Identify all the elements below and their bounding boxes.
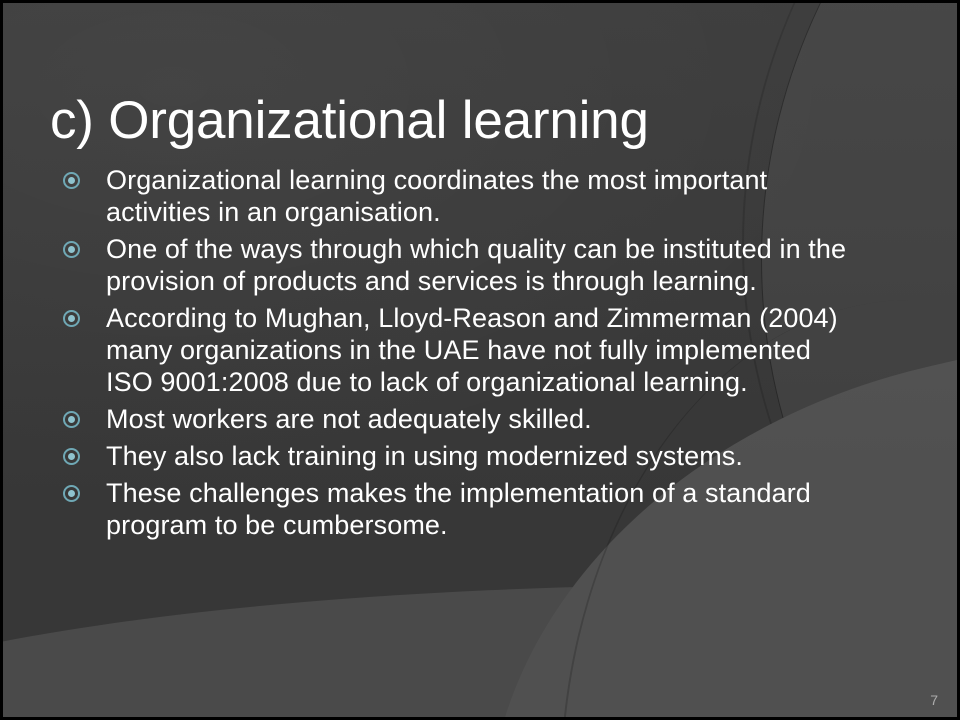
list-item-label: According to Mughan, Lloyd-Reason and Zi… bbox=[106, 302, 858, 398]
list-item: Most workers are not adequately skilled. bbox=[58, 403, 858, 435]
list-item: These challenges makes the implementatio… bbox=[58, 477, 858, 541]
target-bullet-icon bbox=[63, 485, 80, 502]
list-item-label: Most workers are not adequately skilled. bbox=[106, 403, 858, 435]
target-bullet-icon bbox=[63, 241, 80, 258]
target-bullet-icon bbox=[63, 310, 80, 327]
list-item: According to Mughan, Lloyd-Reason and Zi… bbox=[58, 302, 858, 398]
target-bullet-icon bbox=[63, 448, 80, 465]
page-number: 7 bbox=[930, 692, 938, 708]
list-item-label: One of the ways through which quality ca… bbox=[106, 233, 858, 297]
slide-title: c) Organizational learning bbox=[50, 92, 890, 149]
list-item-label: Organizational learning coordinates the … bbox=[106, 164, 858, 228]
bullet-list: Organizational learning coordinates the … bbox=[58, 164, 858, 546]
list-item-label: These challenges makes the implementatio… bbox=[106, 477, 858, 541]
slide-canvas: c) Organizational learning Organizationa… bbox=[0, 0, 960, 720]
list-item: They also lack training in using moderni… bbox=[58, 440, 858, 472]
list-item: One of the ways through which quality ca… bbox=[58, 233, 858, 297]
list-item: Organizational learning coordinates the … bbox=[58, 164, 858, 228]
slide-content: c) Organizational learning Organizationa… bbox=[0, 0, 960, 720]
list-item-label: They also lack training in using moderni… bbox=[106, 440, 858, 472]
target-bullet-icon bbox=[63, 411, 80, 428]
target-bullet-icon bbox=[63, 172, 80, 189]
